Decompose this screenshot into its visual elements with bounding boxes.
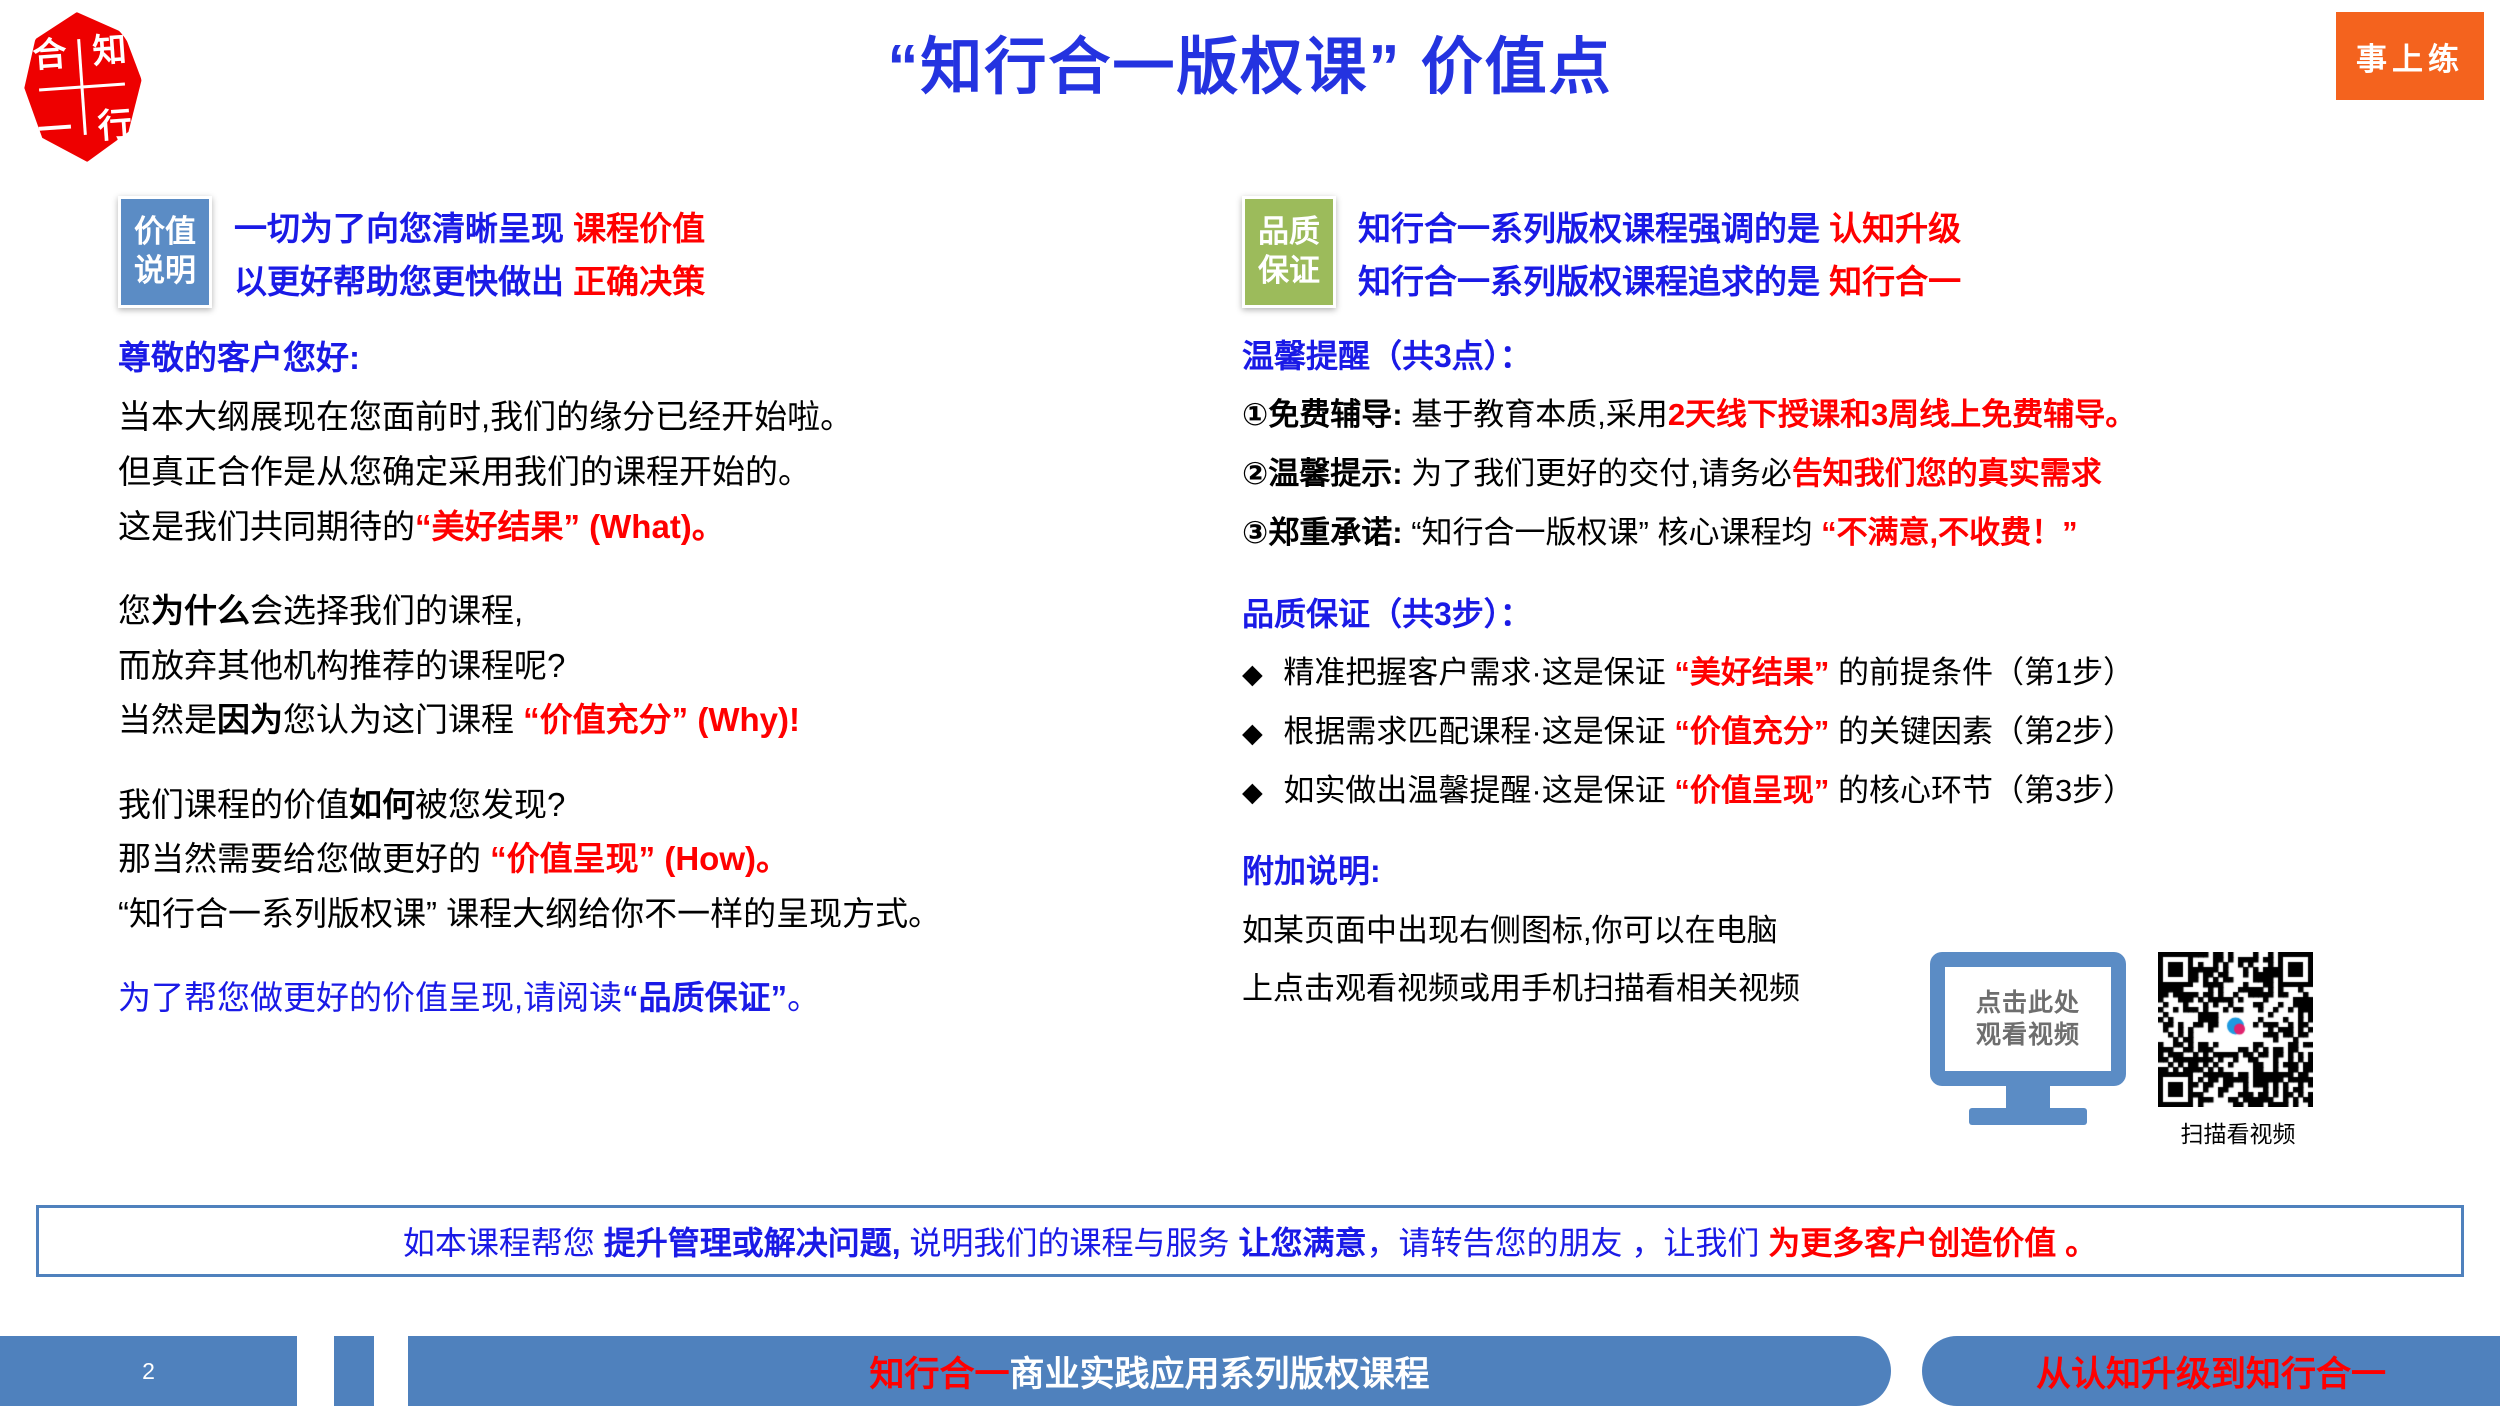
left-body: 尊敬的客户您好: 当本大纲展现在您面前时,我们的缘分已经开始啦。 但真正合作是从… xyxy=(118,335,1198,1021)
left-column: 价值 说明 一切为了向您清晰呈现 课程价值 以更好帮助您更快做出 正确决策 尊敬… xyxy=(118,196,1198,1030)
qr-code-block: 扫描看视频 xyxy=(2158,952,2318,1149)
right-header-line-2-highlight: 知行合一 xyxy=(1829,263,1961,300)
tip-item-2: ②温馨提示: 为了我们更好的交付,请务必告知我们您的真实需求 xyxy=(1242,453,2467,495)
chip-line-2: 保证 xyxy=(1258,252,1320,291)
step-1-highlight: “美好结果” xyxy=(1674,655,1829,690)
step-3-tail: 的核心环节（第3步） xyxy=(1829,773,2134,808)
right-header-line-1-text: 知行合一系列版权课程强调的是 xyxy=(1358,210,1829,247)
what-line-highlight: “美好结果” (What) xyxy=(415,508,692,545)
step-item-1: ◆ 精准把握客户需求·这是保证 “美好结果” 的前提条件（第1步） xyxy=(1242,652,2467,694)
monitor-neck-icon xyxy=(2006,1086,2050,1108)
step-2-highlight: “价值充分” xyxy=(1674,714,1829,749)
quality-guarantee-chip: 品质 保证 xyxy=(1242,196,1336,308)
tip-2-highlight: 告知我们您的真实需求 xyxy=(1792,456,2102,491)
right-header-lines: 知行合一系列版权课程强调的是 认知升级 知行合一系列版权课程追求的是 知行合一 xyxy=(1358,196,1961,309)
left-header-line-2: 以更好帮助您更快做出 正确决策 xyxy=(234,255,705,308)
why-line-1-c: 会选择我们的课程, xyxy=(250,592,523,629)
spacer-2 xyxy=(118,752,1198,782)
what-line-prefix: 这是我们共同期待的 xyxy=(118,508,415,545)
watch-video-monitor-button[interactable]: 点击此处 观看视频 xyxy=(1930,952,2126,1125)
spacer-1 xyxy=(118,558,1198,588)
left-header-lines: 一切为了向您清晰呈现 课程价值 以更好帮助您更快做出 正确决策 xyxy=(234,196,705,309)
diamond-bullet-icon: ◆ xyxy=(1242,659,1263,689)
why-line-3-highlight: “价值充分” (Why) xyxy=(523,701,789,738)
step-item-2: ◆ 根据需求匹配课程·这是保证 “价值充分” 的关键因素（第2步） xyxy=(1242,711,2467,753)
step-3-text: 如实做出温馨提醒·这是保证 xyxy=(1275,773,1675,808)
what-line: 这是我们共同期待的“美好结果” (What)。 xyxy=(118,504,1198,550)
intro-line-2: 但真正合作是从您确定采用我们的课程开始的。 xyxy=(118,449,1198,495)
monitor-line-2: 观看视频 xyxy=(1976,1019,2080,1052)
step-2-tail: 的关键因素（第2步） xyxy=(1829,714,2134,749)
footer-divider xyxy=(334,1336,374,1406)
tip-1-number: ① xyxy=(1242,397,1268,432)
step-1-text: 精准把握客户需求·这是保证 xyxy=(1275,655,1675,690)
slide-root: 合 知 一 行 “知行合一版权课” 价值点 事上练 价值 说明 一切为了向您清晰… xyxy=(0,0,2500,1406)
right-header-line-1: 知行合一系列版权课程强调的是 认知升级 xyxy=(1358,202,1961,255)
why-line-1-bold: 为什么 xyxy=(151,592,250,629)
value-explanation-chip: 价值 说明 xyxy=(118,196,212,308)
spacer-3 xyxy=(118,945,1198,975)
page-title: “知行合一版权课” 价值点 xyxy=(0,16,2500,106)
callout-box: 如本课程帮您 提升管理或解决问题, 说明我们的课程与服务 让您满意，请转告您的朋… xyxy=(36,1205,2464,1277)
extra-title: 附加说明: xyxy=(1242,850,2467,893)
callout-seg-5: ，请转告您的朋友 ，让我们 xyxy=(1366,1225,1768,1261)
left-header-line-2-highlight: 正确决策 xyxy=(573,263,705,300)
why-line-1: 您为什么会选择我们的课程, xyxy=(118,588,1198,634)
spacer-right-1 xyxy=(1242,571,2467,593)
closing-line-highlight: “品质保证” xyxy=(622,979,787,1016)
why-line-3-bold: 因为 xyxy=(217,701,283,738)
why-line-3-suffix: ! xyxy=(789,701,800,738)
left-header-line-2-text: 以更好帮助您更快做出 xyxy=(234,263,573,300)
chip-line-1: 价值 xyxy=(134,213,196,252)
right-header-line-2: 知行合一系列版权课程追求的是 知行合一 xyxy=(1358,255,1961,308)
footer-bar: 2 知行合一商业实践应用系列版权课程 从认知升级到知行合一 xyxy=(0,1336,2500,1406)
right-header-line-1-highlight: 认知升级 xyxy=(1829,210,1961,247)
tip-item-3: ③郑重承诺: “知行合一版权课” 核心课程均 “不满意,不收费！” xyxy=(1242,512,2467,554)
qr-code-icon xyxy=(2158,952,2313,1107)
left-header-line-1-text: 一切为了向您清晰呈现 xyxy=(234,210,573,247)
why-line-1-a: 您 xyxy=(118,592,151,629)
footer-main-banner: 知行合一商业实践应用系列版权课程 xyxy=(408,1336,1891,1406)
diamond-bullet-icon: ◆ xyxy=(1242,777,1263,807)
left-header-line-1: 一切为了向您清晰呈现 课程价值 xyxy=(234,202,705,255)
footer-slogan: 从认知升级到知行合一 xyxy=(1922,1336,2500,1406)
chip-line-2: 说明 xyxy=(134,252,196,291)
monitor-screen-icon[interactable]: 点击此处 观看视频 xyxy=(1930,952,2126,1086)
left-section-header: 价值 说明 一切为了向您清晰呈现 课程价值 以更好帮助您更快做出 正确决策 xyxy=(118,196,1198,309)
how-line-1-c: 被您发现? xyxy=(415,786,565,823)
why-line-3-a: 当然是 xyxy=(118,701,217,738)
diamond-bullet-icon: ◆ xyxy=(1242,718,1263,748)
page-number: 2 xyxy=(0,1336,297,1406)
intro-line-1: 当本大纲展现在您面前时,我们的缘分已经开始啦。 xyxy=(118,394,1198,440)
qr-caption: 扫描看视频 xyxy=(2158,1115,2318,1149)
callout-seg-1: 如本课程帮您 xyxy=(403,1225,604,1261)
how-line-3: “知行合一系列版权课” 课程大纲给你不一样的呈现方式。 xyxy=(118,891,1198,937)
greeting-line: 尊敬的客户您好: xyxy=(118,335,1198,381)
why-line-2: 而放弃其他机构推荐的课程呢? xyxy=(118,643,1198,689)
how-line-2-a: 那当然需要给您做更好的 xyxy=(118,840,490,877)
tip-item-1: ①免费辅导: 基于教育本质,采用2天线下授课和3周线上免费辅导。 xyxy=(1242,394,2467,436)
tip-2-text: 为了我们更好的交付,请务必 xyxy=(1403,456,1792,491)
tip-2-number: ② xyxy=(1242,456,1268,491)
monitor-base-icon xyxy=(1969,1108,2087,1125)
tip-2-label: 温馨提示: xyxy=(1268,456,1402,491)
callout-seg-4: 让您满意 xyxy=(1238,1225,1366,1261)
closing-line-a: 为了帮您做更好的价值呈现,请阅读 xyxy=(118,979,622,1016)
footer-brand-red: 知行合一 xyxy=(869,1346,1009,1397)
why-line-3-c: 您认为这门课程 xyxy=(283,701,523,738)
extra-line-1: 如某页面中出现右侧图标,你可以在电脑 xyxy=(1242,910,2467,952)
how-line-1-bold: 如何 xyxy=(349,786,415,823)
spacer-right-2 xyxy=(1242,828,2467,850)
tip-1-text: 基于教育本质,采用 xyxy=(1403,397,1668,432)
callout-seg-2: 提升管理或解决问题, xyxy=(604,1225,901,1261)
step-3-highlight: “价值呈现” xyxy=(1674,773,1829,808)
video-widgets: 点击此处 观看视频 扫描看视频 xyxy=(1930,952,2318,1149)
footer-brand-white: 商业实践应用系列版权课程 xyxy=(1010,1346,1430,1397)
step-2-text: 根据需求匹配课程·这是保证 xyxy=(1275,714,1675,749)
tip-1-label: 免费辅导: xyxy=(1268,397,1402,432)
chip-line-1: 品质 xyxy=(1258,213,1320,252)
how-line-2-highlight: “价值呈现” (How) xyxy=(490,840,756,877)
how-line-2: 那当然需要给您做更好的 “价值呈现” (How)。 xyxy=(118,836,1198,882)
step-1-tail: 的前提条件（第1步） xyxy=(1829,655,2134,690)
right-section-header: 品质 保证 知行合一系列版权课程强调的是 认知升级 知行合一系列版权课程追求的是… xyxy=(1242,196,2467,309)
callout-seg-6: 为更多客户创造价值 xyxy=(1768,1225,2056,1261)
callout-seg-7: 。 xyxy=(2056,1225,2097,1261)
right-header-line-2-text: 知行合一系列版权课程追求的是 xyxy=(1358,263,1829,300)
right-column: 品质 保证 知行合一系列版权课程强调的是 认知升级 知行合一系列版权课程追求的是… xyxy=(1242,196,2467,1027)
brand-badge: 事上练 xyxy=(2336,12,2484,100)
steps-title: 品质保证（共3步）： xyxy=(1242,593,2467,636)
tip-3-text: “知行合一版权课” 核心课程均 xyxy=(1403,515,1821,550)
how-line-1: 我们课程的价值如何被您发现? xyxy=(118,782,1198,828)
tips-title: 温馨提醒（共3点）： xyxy=(1242,335,2467,378)
how-line-1-a: 我们课程的价值 xyxy=(118,786,349,823)
tip-3-label: 郑重承诺: xyxy=(1268,515,1402,550)
tip-1-highlight: 2天线下授课和3周线上免费辅导。 xyxy=(1668,397,2136,432)
tip-3-number: ③ xyxy=(1242,515,1268,550)
callout-seg-3: 说明我们的课程与服务 xyxy=(901,1225,1239,1261)
callout-text: 如本课程帮您 提升管理或解决问题, 说明我们的课程与服务 让您满意，请转告您的朋… xyxy=(403,1218,2097,1264)
why-line-3: 当然是因为您认为这门课程 “价值充分” (Why)! xyxy=(118,697,1198,743)
closing-line-c: 。 xyxy=(787,979,820,1016)
monitor-line-1: 点击此处 xyxy=(1976,987,2080,1020)
closing-line: 为了帮您做更好的价值呈现,请阅读“品质保证”。 xyxy=(118,975,1198,1021)
tip-3-highlight: “不满意,不收费！” xyxy=(1821,515,2078,550)
what-line-suffix: 。 xyxy=(692,508,725,545)
left-header-line-1-highlight: 课程价值 xyxy=(573,210,705,247)
how-line-2-suffix: 。 xyxy=(756,840,789,877)
step-item-3: ◆ 如实做出温馨提醒·这是保证 “价值呈现” 的核心环节（第3步） xyxy=(1242,770,2467,812)
right-body: 温馨提醒（共3点）： ①免费辅导: 基于教育本质,采用2天线下授课和3周线上免费… xyxy=(1242,335,2467,1010)
